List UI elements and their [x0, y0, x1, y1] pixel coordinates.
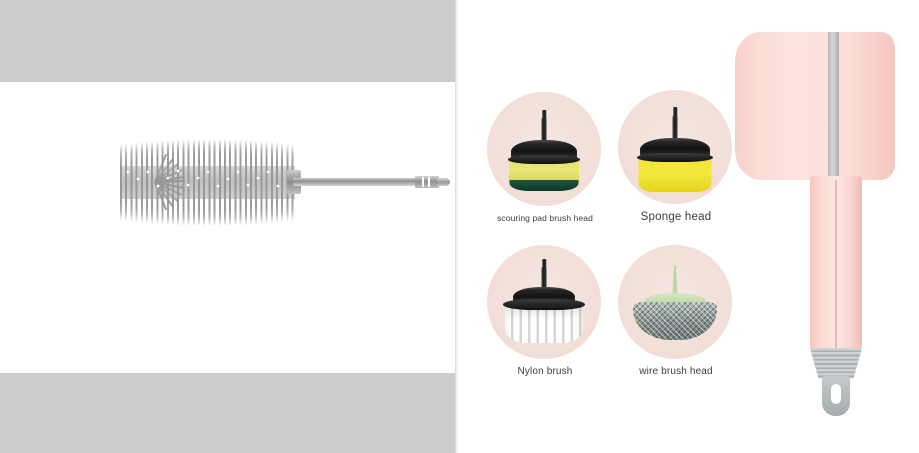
- device-ribbed-cuff: [810, 348, 862, 378]
- device-hanging-loop-hole: [831, 384, 841, 404]
- left-product-panel: [0, 0, 456, 453]
- screenshot-root: scouring pad brush head Sponge head Ny: [0, 0, 919, 453]
- bottom-gray-band: [0, 373, 456, 453]
- bottle-brush-product-image: [85, 140, 435, 225]
- handheld-spin-scrubber-image: [458, 0, 919, 453]
- device-handle-seam: [835, 180, 837, 350]
- brush-rod: [293, 178, 421, 186]
- device-motor-head: [735, 32, 895, 180]
- brush-wire-speckles: [125, 168, 290, 198]
- top-gray-band: [0, 0, 456, 82]
- right-product-panel: scouring pad brush head Sponge head Ny: [458, 0, 919, 453]
- brush-end-bit: [437, 178, 450, 186]
- brush-shank: [415, 176, 439, 188]
- device-head-stripe: [828, 32, 839, 180]
